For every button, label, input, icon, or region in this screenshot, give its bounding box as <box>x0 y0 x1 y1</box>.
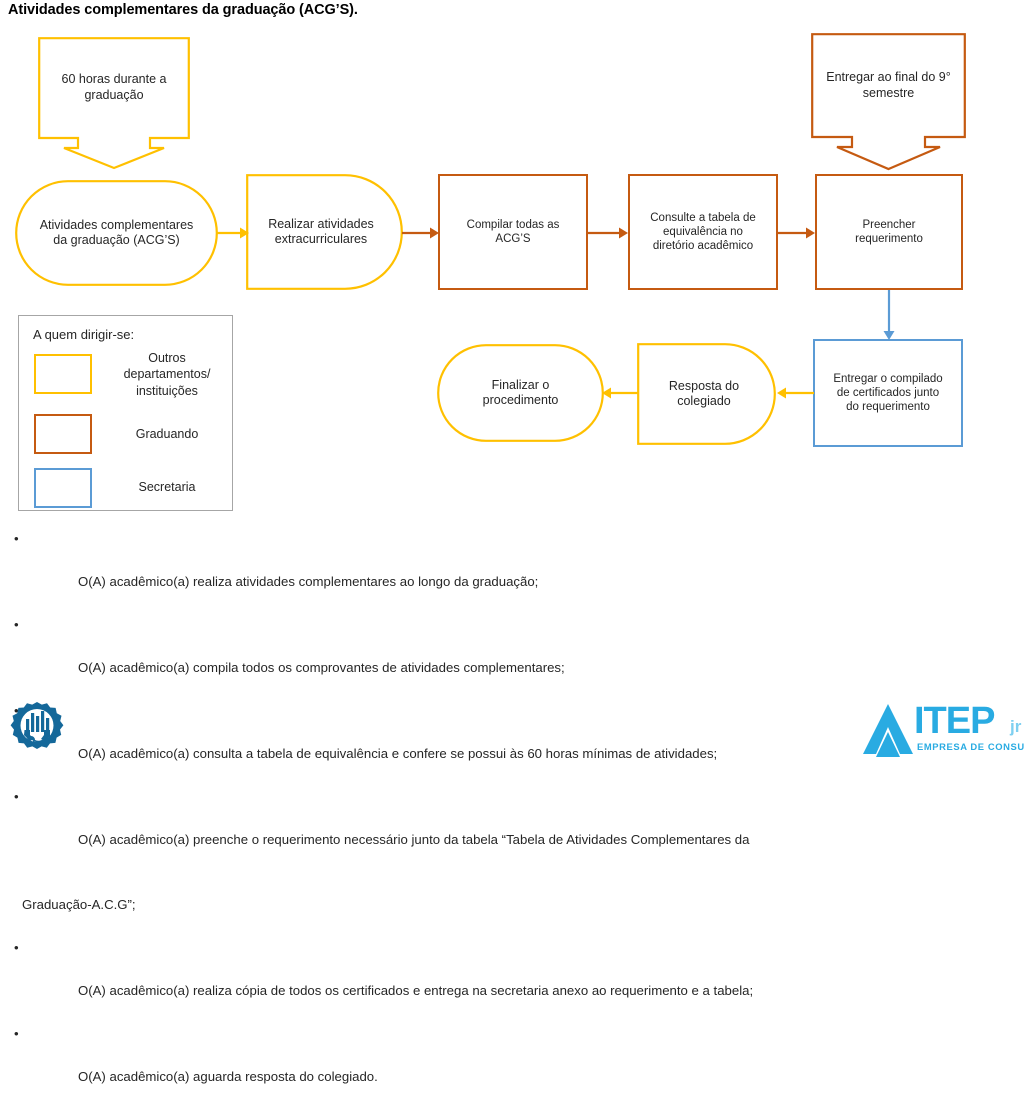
itep-triangle-icon <box>862 702 914 758</box>
node-resposta-colegiado-label: Resposta do colegiado <box>637 343 771 445</box>
arrow-preencher-to-entregar <box>881 290 897 341</box>
node-resposta-colegiado: Resposta do colegiado <box>637 343 777 445</box>
arrow-realizar-to-compilar <box>402 225 440 241</box>
legend-swatch-secretaria <box>34 468 92 508</box>
node-consulte-tabela-label: Consulte a tabela de equivalência no dir… <box>630 176 776 288</box>
page-title: Atividades complementares da graduação (… <box>8 2 358 18</box>
node-realizar-atividades-label: Realizar atividades extracurriculares <box>246 174 396 290</box>
node-compilar-acgs: Compilar todas as ACG’S <box>438 174 588 290</box>
bullet-marker: • <box>14 937 19 959</box>
bullet-marker: • <box>14 786 19 808</box>
legend-swatch-graduando <box>34 414 92 454</box>
node-compilar-acgs-label: Compilar todas as ACG’S <box>440 176 586 288</box>
list-item-text: O(A) acadêmico(a) realiza cópia de todos… <box>78 983 753 998</box>
list-item-continuation: Graduação-A.C.G”; <box>0 872 1024 937</box>
list-item-text: O(A) acadêmico(a) realiza atividades com… <box>78 574 538 589</box>
legend-swatch-outros-departamentos <box>34 354 92 394</box>
arrow-entregar-to-resposta <box>776 385 815 401</box>
list-item: • O(A) acadêmico(a) aguarda resposta do … <box>0 1023 1024 1109</box>
itep-jr-suffix: jr <box>1010 718 1021 735</box>
list-item: • O(A) acadêmico(a) realiza atividades c… <box>0 528 1024 614</box>
node-atividades-complementares-label: Atividades complementares da graduação (… <box>15 180 218 286</box>
node-preencher-requerimento-label: Preencher requerimento <box>817 176 961 288</box>
list-item-text: O(A) acadêmico(a) consulta a tabela de e… <box>78 746 717 761</box>
node-realizar-atividades: Realizar atividades extracurriculares <box>246 174 403 290</box>
node-finalizar-procedimento-label: Finalizar o procedimento <box>437 344 604 442</box>
list-item-text: Graduação-A.C.G”; <box>22 897 136 912</box>
list-item-text: O(A) acadêmico(a) aguarda resposta do co… <box>78 1069 378 1084</box>
node-entregar-compilado: Entregar o compilado de certificados jun… <box>813 339 963 447</box>
list-item-text: O(A) acadêmico(a) compila todos os compr… <box>78 660 565 675</box>
legend-label-secretaria: Secretaria <box>107 479 227 495</box>
list-item-text: O(A) acadêmico(a) preenche o requeriment… <box>78 832 749 847</box>
list-item: • O(A) acadêmico(a) compila todos os com… <box>0 614 1024 700</box>
arrow-compilar-to-consulte <box>588 225 630 241</box>
bullet-list: • O(A) acadêmico(a) realiza atividades c… <box>0 528 1024 1109</box>
legend-title: A quem dirigir-se: <box>33 327 134 342</box>
callout-60-horas: 60 horas durante a graduação <box>38 37 190 169</box>
list-item: • O(A) acadêmico(a) preenche o requerime… <box>0 786 1024 872</box>
arrow-resposta-to-finalizar <box>601 385 640 401</box>
bullet-marker: • <box>14 614 19 636</box>
callout-entregar-final: Entregar ao final do 9° semestre <box>811 33 966 171</box>
itep-wordmark: ITEP <box>914 702 994 740</box>
itep-logo: ITEP jr EMPRESA DE CONSULTORIA <box>862 700 1018 758</box>
callout-entregar-final-label: Entregar ao final do 9° semestre <box>811 60 966 112</box>
node-finalizar-procedimento: Finalizar o procedimento <box>437 344 604 442</box>
bullet-marker: • <box>14 1023 19 1045</box>
arrow-consulte-to-preencher <box>778 225 817 241</box>
gear-hand-logo <box>6 700 68 760</box>
node-entregar-compilado-label: Entregar o compilado de certificados jun… <box>815 341 961 445</box>
diagram-page: Atividades complementares da graduação (… <box>0 0 1024 766</box>
node-atividades-complementares: Atividades complementares da graduação (… <box>15 180 218 286</box>
legend-panel: A quem dirigir-se: Outros departamentos/… <box>18 315 233 511</box>
node-consulte-tabela: Consulte a tabela de equivalência no dir… <box>628 174 778 290</box>
list-item: • O(A) acadêmico(a) realiza cópia de tod… <box>0 937 1024 1023</box>
callout-60-horas-label: 60 horas durante a graduação <box>38 63 190 113</box>
legend-label-graduando: Graduando <box>107 426 227 442</box>
node-preencher-requerimento: Preencher requerimento <box>815 174 963 290</box>
arrow-atividades-to-realizar <box>216 225 250 241</box>
bullet-marker: • <box>14 528 19 550</box>
legend-label-outros-departamentos: Outros departamentos/ instituições <box>107 350 227 399</box>
itep-subtitle: EMPRESA DE CONSULTORIA <box>917 742 1024 752</box>
gear-hand-icon <box>6 700 68 760</box>
